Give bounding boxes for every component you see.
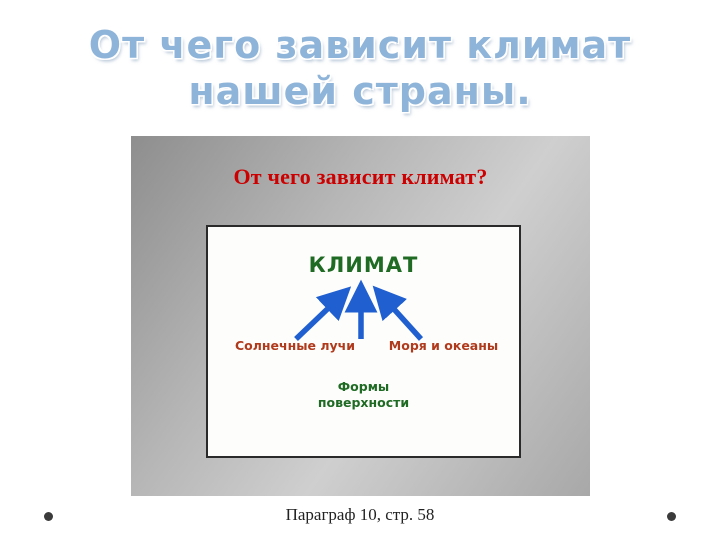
slide: От чего зависит климат нашей страны. От …	[0, 0, 720, 540]
page-title: От чего зависит климат нашей страны.	[0, 22, 720, 114]
diagram-factor-landforms-line-2: поверхности	[318, 395, 409, 410]
diagram-box: КЛИМАТ Солнечные лучи Моря и океаны	[206, 225, 521, 458]
diagram-factor-landforms: Формы поверхности	[208, 379, 519, 411]
diagram-factor-sun-rays: Солнечные лучи	[220, 338, 370, 353]
diagram-factor-seas-oceans: Моря и океаны	[376, 338, 511, 353]
image-heading: От чего зависит климат?	[131, 164, 590, 190]
left-arrow-to-climate	[296, 297, 340, 339]
right-arrow-to-climate	[383, 297, 421, 339]
page-title-line-2: нашей страны.	[0, 68, 720, 114]
diagram-factor-landforms-line-1: Формы	[338, 379, 389, 394]
diagram-inner: КЛИМАТ Солнечные лучи Моря и океаны	[208, 227, 519, 456]
footer-reference: Параграф 10, стр. 58	[0, 505, 720, 525]
climate-diagram-image: От чего зависит климат? КЛИМАТ	[131, 136, 590, 496]
page-title-line-1: От чего зависит климат	[0, 22, 720, 68]
